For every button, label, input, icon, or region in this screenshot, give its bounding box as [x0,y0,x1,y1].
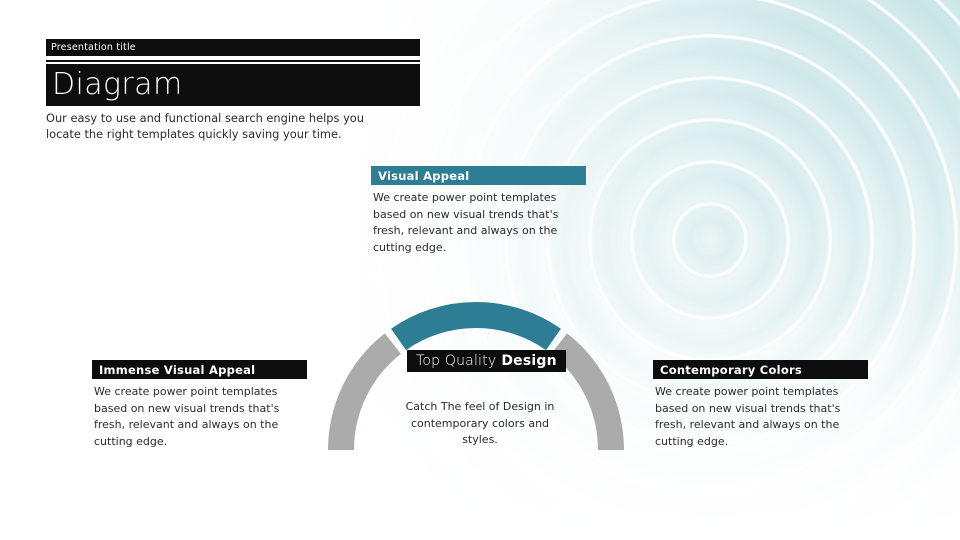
center-description: Catch The feel of Design in contemporary… [396,399,564,449]
callout-immense-visual-appeal[interactable]: Immense Visual Appeal We create power po… [92,360,307,450]
callout-body-contemporary-colors: We create power point templates based on… [653,384,868,450]
center-label-top-quality-design[interactable]: Top Quality Design [407,350,566,372]
callout-body-visual-appeal: We create power point templates based on… [371,190,586,256]
callout-body-immense-visual-appeal: We create power point templates based on… [92,384,307,450]
callout-heading-visual-appeal: Visual Appeal [371,166,586,185]
callout-heading-contemporary-colors: Contemporary Colors [653,360,868,379]
center-label-thin: Top Quality [416,353,496,369]
slide-subtitle: Our easy to use and functional search en… [46,110,402,142]
presentation-title-bar: Presentation title [46,39,420,56]
slide-canvas: Presentation title Diagram Our easy to u… [0,0,960,540]
gauge-top-segment[interactable] [399,315,554,339]
presentation-title-text: Presentation title [46,42,136,53]
callout-visual-appeal[interactable]: Visual Appeal We create power point temp… [371,166,586,256]
callout-heading-immense-visual-appeal: Immense Visual Appeal [92,360,307,379]
slide-title-bar: Diagram [46,64,420,106]
callout-contemporary-colors[interactable]: Contemporary Colors We create power poin… [653,360,868,450]
page-title: Diagram [46,70,183,100]
gauge-right-segment[interactable] [559,344,611,450]
header-divider-rule [46,60,420,62]
center-label-bold: Design [501,353,556,369]
gauge-left-segment[interactable] [341,344,393,450]
